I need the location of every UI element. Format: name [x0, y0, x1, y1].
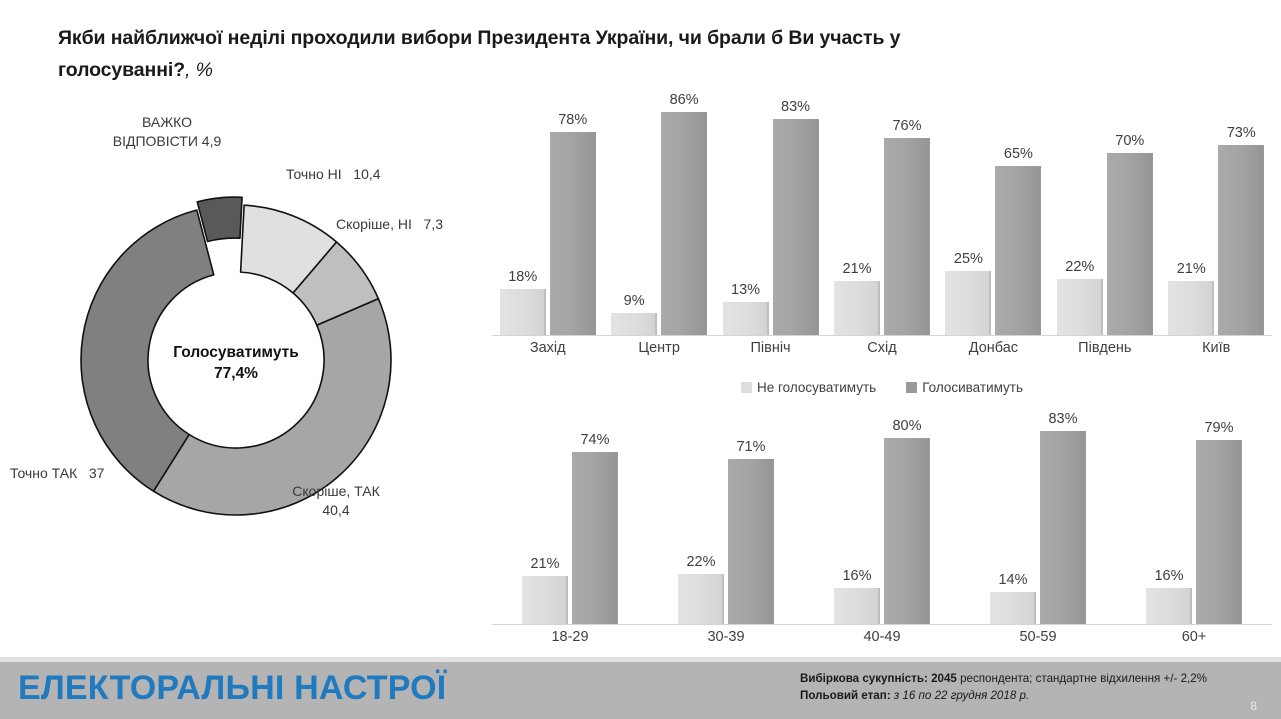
donut-label-definitely-yes: Точно ТАК 37 [10, 464, 104, 483]
category-label: Захід [492, 340, 603, 356]
footer-field-line: Польовий етап: з 16 по 22 грудня 2018 р. [800, 687, 1270, 704]
bar [550, 132, 596, 336]
legend-label: Не голосуватимуть [757, 380, 876, 395]
bar-value-label: 22% [678, 554, 724, 570]
bar-value-label: 76% [884, 118, 930, 134]
page-title-unit: , % [185, 59, 213, 81]
footer-sample-label: Вибіркова сукупність: [800, 672, 928, 685]
bar [1168, 281, 1214, 336]
plot-area-age: 21%74%22%71%16%80%14%83%16%79% [492, 410, 1272, 625]
bar [884, 438, 930, 625]
bar [834, 281, 880, 336]
bar-item: 79% [1196, 410, 1242, 625]
bar-chart-by-age: 21%74%22%71%16%80%14%83%16%79% 18-2930-3… [492, 410, 1272, 655]
category-labels-region: ЗахідЦентрПівнічСхідДонбасПівденьКиїв [492, 340, 1272, 356]
bar [773, 119, 819, 336]
bar [995, 166, 1041, 336]
bar-item: 76% [884, 88, 930, 336]
bar-groups-region: 18%78%9%86%13%83%21%76%25%65%22%70%21%73… [492, 88, 1272, 336]
bar-item: 78% [550, 88, 596, 336]
bar [1107, 153, 1153, 336]
bar-value-label: 14% [990, 572, 1036, 588]
bar [1196, 440, 1242, 625]
category-label: Центр [603, 340, 714, 356]
legend-item[interactable]: Не голосуватимуть [741, 380, 876, 395]
bar-item: 71% [728, 410, 774, 625]
donut-label-definitely-no: Точно НІ 10,4 [286, 165, 381, 184]
bar [1218, 145, 1264, 336]
bar-item: 70% [1107, 88, 1153, 336]
bar-group: 16%79% [1116, 410, 1272, 625]
bar-group: 14%83% [960, 410, 1116, 625]
bar-item: 21% [1168, 88, 1214, 336]
x-axis-line-region [492, 335, 1272, 336]
bar [1146, 588, 1192, 625]
legend-label: Голосиватимуть [922, 380, 1023, 395]
bar [572, 452, 618, 625]
bar-item: 74% [572, 410, 618, 625]
bar [728, 459, 774, 625]
chart-legend: Не голосуватимутьГолосиватимуть [492, 380, 1272, 395]
bar [611, 313, 657, 336]
footer-methodology-note: Вибіркова сукупність: 2045 респондента; … [800, 670, 1270, 704]
legend-item[interactable]: Голосиватимуть [906, 380, 1023, 395]
category-label: 60+ [1116, 629, 1272, 645]
bar-value-label: 16% [834, 568, 880, 584]
bar-value-label: 86% [661, 92, 707, 108]
x-axis-line-age [492, 624, 1272, 625]
footer-title: ЕЛЕКТОРАЛЬНІ НАСТРОЇ [18, 669, 446, 708]
bar [1057, 279, 1103, 336]
donut-center-label: Голосуватимуть [141, 342, 331, 363]
bar-group: 16%80% [804, 410, 960, 625]
donut-center-value: 77,4% [141, 363, 331, 384]
bar [500, 289, 546, 336]
bar-value-label: 21% [522, 556, 568, 572]
bar-group: 13%83% [715, 88, 826, 336]
bar-item: 14% [990, 410, 1036, 625]
bar-item: 86% [661, 88, 707, 336]
bar-value-label: 80% [884, 418, 930, 434]
category-label: 18-29 [492, 629, 648, 645]
page-number: 8 [1250, 699, 1257, 713]
bar-value-label: 70% [1107, 133, 1153, 149]
bar-value-label: 21% [1168, 261, 1214, 277]
bar-value-label: 9% [611, 293, 657, 309]
bar-value-label: 16% [1146, 568, 1192, 584]
bar-item: 9% [611, 88, 657, 336]
bar-group: 22%71% [648, 410, 804, 625]
bar-group: 21%74% [492, 410, 648, 625]
bar-item: 25% [945, 88, 991, 336]
bar-value-label: 21% [834, 261, 880, 277]
footer-sample-rest: респондента; стандартне відхилення +/- 2… [957, 672, 1207, 685]
bar-group: 22%70% [1049, 88, 1160, 336]
category-label: Київ [1161, 340, 1272, 356]
footer-bar: ЕЛЕКТОРАЛЬНІ НАСТРОЇ Вибіркова сукупніст… [0, 657, 1281, 719]
bar-groups-age: 21%74%22%71%16%80%14%83%16%79% [492, 410, 1272, 625]
footer-field-label: Польовий етап: [800, 689, 891, 702]
bar-value-label: 79% [1196, 420, 1242, 436]
bar-item: 13% [723, 88, 769, 336]
legend-swatch-icon [741, 382, 752, 393]
category-label: Донбас [938, 340, 1049, 356]
bar-value-label: 73% [1218, 125, 1264, 141]
bar-item: 83% [1040, 410, 1086, 625]
bar-value-label: 22% [1057, 259, 1103, 275]
bar-item: 22% [678, 410, 724, 625]
bar [522, 576, 568, 625]
bar-group: 9%86% [603, 88, 714, 336]
bar-group: 21%76% [826, 88, 937, 336]
bar [723, 302, 769, 336]
bar-item: 16% [834, 410, 880, 625]
plot-area-region: 18%78%9%86%13%83%21%76%25%65%22%70%21%73… [492, 88, 1272, 336]
bar-item: 18% [500, 88, 546, 336]
page-title: Якби найближчої неділі проходили вибори … [58, 22, 1018, 86]
bar-chart-by-region: 18%78%9%86%13%83%21%76%25%65%22%70%21%73… [492, 88, 1272, 378]
category-label: Південь [1049, 340, 1160, 356]
bar-item: 16% [1146, 410, 1192, 625]
donut-chart-turnout-breakdown: Голосуватимуть 77,4% [10, 150, 480, 550]
bar [884, 138, 930, 336]
bar [678, 574, 724, 625]
bar [945, 271, 991, 336]
bar-item: 65% [995, 88, 1041, 336]
bar-item: 83% [773, 88, 819, 336]
slide: Якби найближчої неділі проходили вибори … [0, 0, 1281, 719]
bar-item: 21% [834, 88, 880, 336]
footer-sample-line: Вибіркова сукупність: 2045 респондента; … [800, 670, 1270, 687]
bar-value-label: 74% [572, 432, 618, 448]
category-label: 50-59 [960, 629, 1116, 645]
bar-value-label: 78% [550, 112, 596, 128]
bar [834, 588, 880, 625]
bar-item: 21% [522, 410, 568, 625]
bar-value-label: 65% [995, 146, 1041, 162]
bar-value-label: 25% [945, 251, 991, 267]
bar [661, 112, 707, 337]
bar-value-label: 18% [500, 269, 546, 285]
bar [990, 592, 1036, 625]
legend-swatch-icon [906, 382, 917, 393]
bar-value-label: 83% [773, 99, 819, 115]
bar-value-label: 83% [1040, 411, 1086, 427]
bar-group: 18%78% [492, 88, 603, 336]
category-label: Схід [826, 340, 937, 356]
footer-sample-value: 2045 [931, 672, 957, 685]
bar-item: 80% [884, 410, 930, 625]
donut-label-hard-to-answer: ВАЖКО ВІДПОВІСТИ 4,9 [92, 113, 242, 151]
donut-center-text: Голосуватимуть 77,4% [141, 342, 331, 384]
footer-field-value: з 16 по 22 грудня 2018 р. [891, 689, 1030, 702]
bar [1040, 431, 1086, 625]
bar-value-label: 13% [723, 282, 769, 298]
bar-group: 21%73% [1161, 88, 1272, 336]
category-label: 30-39 [648, 629, 804, 645]
category-labels-age: 18-2930-3940-4950-5960+ [492, 629, 1272, 645]
bar-value-label: 71% [728, 439, 774, 455]
bar-item: 73% [1218, 88, 1264, 336]
category-label: 40-49 [804, 629, 960, 645]
bar-group: 25%65% [938, 88, 1049, 336]
bar-item: 22% [1057, 88, 1103, 336]
donut-label-rather-yes: Скоріше, ТАК 40,4 [276, 482, 396, 520]
category-label: Північ [715, 340, 826, 356]
donut-label-rather-no: Скоріше, НІ 7,3 [336, 215, 443, 234]
